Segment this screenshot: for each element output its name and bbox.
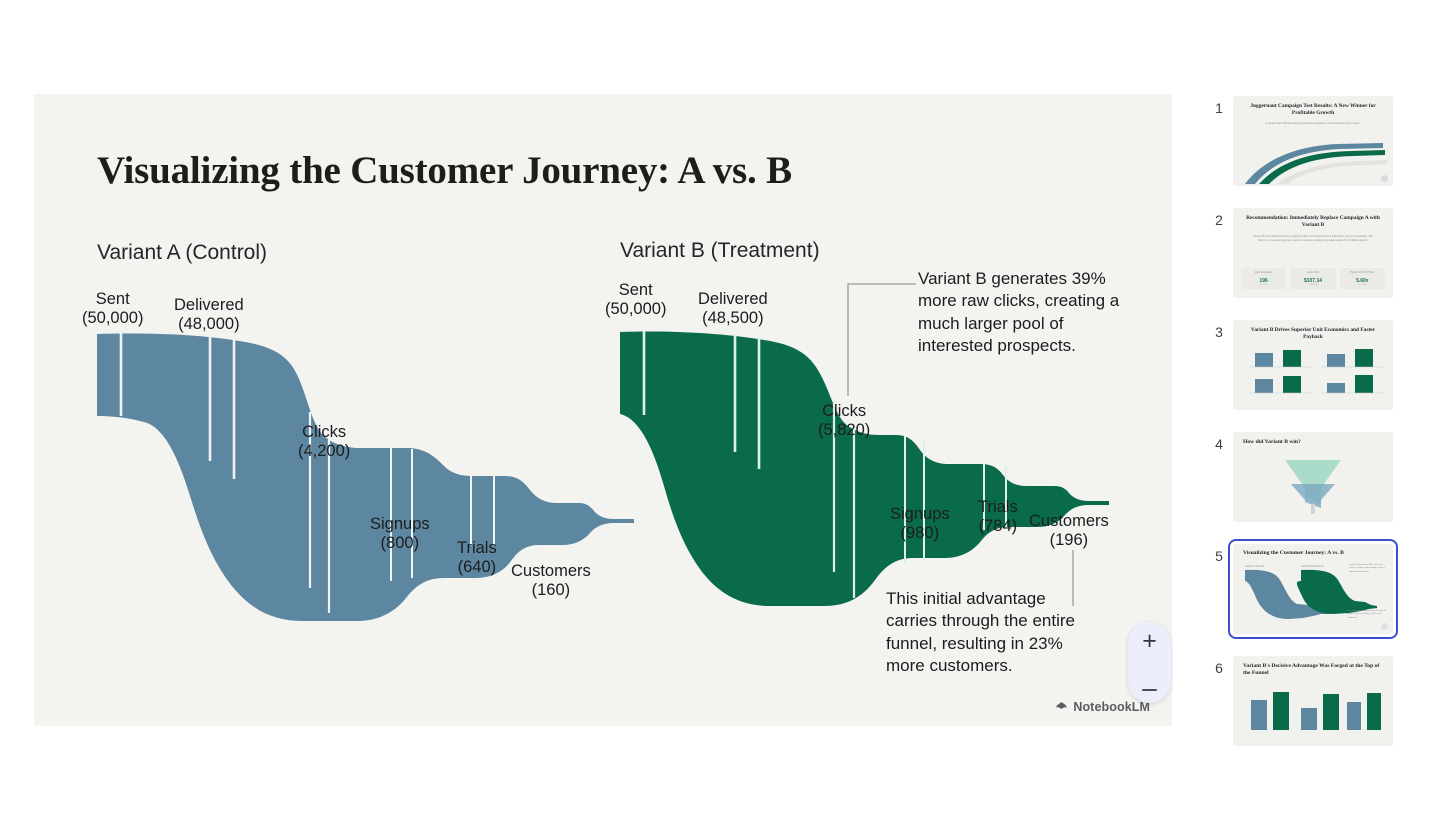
thumbnail-number: 6 bbox=[1205, 656, 1233, 676]
thumbnail-number: 3 bbox=[1205, 320, 1233, 340]
thumbnail-subtitle: Variant B is the definitive winner, acqu… bbox=[1251, 235, 1375, 243]
thumbnail-logo-icon bbox=[1381, 175, 1388, 182]
stage-label-a-signups: Signups (800) bbox=[370, 515, 430, 553]
stage-label-b-trials: Trials (784) bbox=[978, 498, 1018, 536]
stage-value: (160) bbox=[511, 581, 591, 600]
svg-text:Variant A (Control): Variant A (Control) bbox=[1245, 565, 1265, 568]
thumbnail-swoosh-art bbox=[1233, 134, 1393, 186]
thumbnail-number: 4 bbox=[1205, 432, 1233, 452]
thumbnail-slide-5[interactable]: 5 Visualizing the Customer Journey: A vs… bbox=[1205, 544, 1393, 634]
thumbnail-subtitle: A recap of the A/B test showing Variant … bbox=[1251, 122, 1375, 126]
notebooklm-slide-viewer: Visualizing the Customer Journey: A vs. … bbox=[0, 0, 1456, 816]
thumbnail-slide-6[interactable]: 6 Variant B's Decisive Advantage Was For… bbox=[1205, 656, 1393, 746]
stage-value: (980) bbox=[890, 524, 950, 543]
stage-value: (50,000) bbox=[82, 309, 143, 328]
stage-name: Sent bbox=[619, 281, 653, 299]
watermark-label: NotebookLM bbox=[1073, 700, 1150, 714]
metric-card: Higher ROI / LTV:CAC 5.60x vs. 2.20x bbox=[1340, 268, 1385, 289]
stage-value: (196) bbox=[1029, 531, 1109, 550]
stage-name: Clicks bbox=[302, 423, 346, 441]
stage-label-b-sent: Sent (50,000) bbox=[605, 281, 666, 319]
stage-name: Customers bbox=[511, 562, 591, 580]
stage-label-a-customers: Customers (160) bbox=[511, 562, 591, 600]
stage-name: Signups bbox=[370, 515, 430, 533]
thumbnail-slide-2[interactable]: 2 Recommendation: Immediately Replace Ca… bbox=[1205, 208, 1393, 298]
stage-name: Customers bbox=[1029, 512, 1109, 530]
stage-value: (800) bbox=[370, 534, 430, 553]
thumbnail-title: Visualizing the Customer Journey: A vs. … bbox=[1233, 550, 1393, 557]
thumbnail-title: Variant B Drives Superior Unit Economics… bbox=[1233, 327, 1393, 341]
thumbnail-callout-top: Variant B generates 39% more raw clicks,… bbox=[1349, 564, 1387, 574]
callout-bottom-text: This initial advantage carries through t… bbox=[886, 588, 1101, 678]
thumbnail-preview[interactable]: Recommendation: Immediately Replace Camp… bbox=[1233, 208, 1393, 298]
stage-label-b-delivered: Delivered (48,500) bbox=[698, 290, 768, 328]
notebooklm-logo-icon bbox=[1055, 701, 1068, 714]
metric-sub: vs. $125.00 bbox=[1292, 284, 1333, 286]
stage-value: (48,500) bbox=[698, 309, 768, 328]
stage-label-a-delivered: Delivered (48,000) bbox=[174, 296, 244, 334]
thumbnail-preview[interactable]: How did Variant B win? bbox=[1233, 432, 1393, 522]
thumbnail-number: 2 bbox=[1205, 208, 1233, 228]
stage-name: Sent bbox=[96, 290, 130, 308]
metric-sub: vs. 160 bbox=[1243, 284, 1284, 286]
thumbnail-number: 5 bbox=[1205, 544, 1233, 564]
stage-name: Trials bbox=[978, 498, 1018, 516]
stage-label-b-clicks: Clicks (5,820) bbox=[818, 402, 870, 440]
thumbnail-preview[interactable]: Juggernaut Campaign Test Results: A New … bbox=[1233, 96, 1393, 186]
stage-value: (784) bbox=[978, 517, 1018, 536]
stage-name: Delivered bbox=[174, 296, 244, 314]
stage-name: Delivered bbox=[698, 290, 768, 308]
thumbnail-title: Recommendation: Immediately Replace Camp… bbox=[1233, 215, 1393, 229]
slide-thumbnail-rail[interactable]: 1 Juggernaut Campaign Test Results: A Ne… bbox=[1205, 0, 1456, 816]
callout-top-text: Variant B generates 39% more raw clicks,… bbox=[918, 268, 1123, 358]
stage-label-a-trials: Trials (640) bbox=[457, 539, 497, 577]
metric-label: Lower CAC bbox=[1292, 271, 1333, 274]
stage-label-b-customers: Customers (196) bbox=[1029, 512, 1109, 550]
metric-label: Higher ROI / LTV:CAC bbox=[1342, 271, 1383, 274]
zoom-out-button[interactable] bbox=[1142, 689, 1157, 691]
thumbnail-callout-bottom: This initial advantage carries through t… bbox=[1347, 610, 1387, 620]
thumbnail-title: How did Variant B win? bbox=[1233, 439, 1393, 446]
thumbnail-funnel-art bbox=[1277, 454, 1349, 516]
leader-line-top bbox=[848, 284, 916, 396]
metric-label: More Customers bbox=[1243, 271, 1284, 274]
stage-label-a-sent: Sent (50,000) bbox=[82, 290, 143, 328]
thumbnail-logo-icon bbox=[1381, 623, 1388, 630]
metric-card: Lower CAC $107.14 vs. $125.00 bbox=[1290, 268, 1335, 289]
stage-value: (640) bbox=[457, 558, 497, 577]
stage-name: Clicks bbox=[822, 402, 866, 420]
thumbnail-preview-selected[interactable]: Visualizing the Customer Journey: A vs. … bbox=[1233, 544, 1393, 634]
stage-value: (48,000) bbox=[174, 315, 244, 334]
stage-value: (5,820) bbox=[818, 421, 870, 440]
thumbnail-slide-3[interactable]: 3 Variant B Drives Superior Unit Economi… bbox=[1205, 320, 1393, 410]
metric-sub: vs. 2.20x bbox=[1342, 284, 1383, 286]
zoom-control[interactable]: + bbox=[1128, 622, 1171, 703]
thumbnail-number: 1 bbox=[1205, 96, 1233, 116]
stage-name: Trials bbox=[457, 539, 497, 557]
thumbnail-title: Variant B's Decisive Advantage Was Forge… bbox=[1233, 663, 1393, 678]
zoom-in-button[interactable]: + bbox=[1142, 629, 1157, 654]
stage-value: (50,000) bbox=[605, 300, 666, 319]
thumbnail-bar-grid-art bbox=[1239, 345, 1387, 403]
thumbnail-slide-1[interactable]: 1 Juggernaut Campaign Test Results: A Ne… bbox=[1205, 96, 1393, 186]
stage-name: Signups bbox=[890, 505, 950, 523]
thumbnail-preview[interactable]: Variant B's Decisive Advantage Was Forge… bbox=[1233, 656, 1393, 746]
thumbnail-metric-row: More Customers 196 vs. 160 Lower CAC $10… bbox=[1241, 268, 1385, 289]
variant-b-funnel bbox=[620, 331, 1109, 606]
stage-label-a-clicks: Clicks (4,200) bbox=[298, 423, 350, 461]
metric-card: More Customers 196 vs. 160 bbox=[1241, 268, 1286, 289]
thumbnail-preview[interactable]: Variant B Drives Superior Unit Economics… bbox=[1233, 320, 1393, 410]
notebooklm-watermark: NotebookLM bbox=[1055, 700, 1150, 714]
thumbnail-slide-4[interactable]: 4 How did Variant B win? bbox=[1205, 432, 1393, 522]
svg-text:Variant B (Treatment): Variant B (Treatment) bbox=[1301, 565, 1324, 568]
thumbnail-paired-bars-art bbox=[1243, 686, 1383, 742]
stage-value: (4,200) bbox=[298, 442, 350, 461]
current-slide[interactable]: Visualizing the Customer Journey: A vs. … bbox=[34, 94, 1172, 726]
slide-stage: Visualizing the Customer Journey: A vs. … bbox=[0, 0, 1205, 735]
thumbnail-title: Juggernaut Campaign Test Results: A New … bbox=[1233, 103, 1393, 117]
stage-label-b-signups: Signups (980) bbox=[890, 505, 950, 543]
